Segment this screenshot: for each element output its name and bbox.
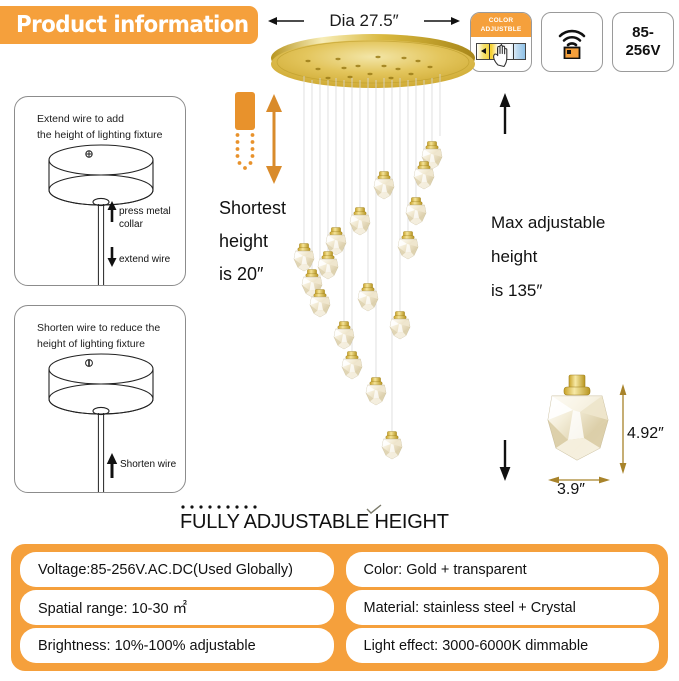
voltage-line-1: 85- (632, 24, 654, 42)
page-title: Product information (16, 12, 249, 38)
feature-remote-control (541, 12, 603, 72)
header-banner: Product information (0, 6, 258, 44)
crystal-height-label: 4.92″ (627, 425, 664, 443)
crystal-width-label: 3.9″ (557, 481, 585, 499)
spec-column-right: Color: Gold + transparent Material: stai… (340, 551, 662, 664)
spec-item-spatial-range: Spatial range: 10-30 ㎡ (20, 590, 334, 625)
diagram-shorten-wire: Shorten wire to reduce the height of lig… (14, 305, 186, 493)
shortest-height-label: Shortest height is 20″ (219, 192, 286, 291)
chandelier-illustration (258, 28, 488, 508)
max-height-label: Max adjustable height is 135″ (491, 206, 605, 308)
spec-item-material: Material: stainless steel + Crystal (346, 590, 660, 625)
hand-pointer-icon (489, 43, 515, 69)
arrow-down-icon (496, 440, 514, 482)
product-information-infographic: Product information Dia 27.5″ COLOR ADJU… (0, 0, 679, 681)
fully-adjustable-height-label: FULLY ADJUSTABLE HEIGHT (180, 511, 449, 534)
voltage-line-2: 256V (625, 42, 660, 60)
shortest-height-indicator (228, 92, 286, 192)
spec-item-brightness: Brightness: 10%-100% adjustable (20, 628, 334, 663)
arrow-right-icon (422, 14, 460, 28)
diagram-extend-wire: Extend wire to add the height of lightin… (14, 96, 186, 286)
spec-column-left: Voltage:85-256V.AC.DC(Used Globally) Spa… (18, 551, 340, 664)
diagram-extend-annotation-3: extend wire (119, 254, 170, 265)
remote-signal-icon (555, 25, 589, 59)
specifications-panel: Voltage:85-256V.AC.DC(Used Globally) Spa… (11, 544, 668, 671)
spec-item-voltage: Voltage:85-256V.AC.DC(Used Globally) (20, 552, 334, 587)
diagram-extend-annotation-1: press metal (119, 205, 171, 218)
feature-voltage-range: 85- 256V (612, 12, 674, 72)
diagram-shorten-annotation-1: Shorten wire (120, 459, 176, 470)
spec-item-color: Color: Gold + transparent (346, 552, 660, 587)
arrow-up-icon (496, 92, 514, 134)
diagram-extend-annotation-2: collar (119, 218, 171, 231)
decorative-dots (180, 503, 260, 511)
arrow-left-icon (268, 14, 306, 28)
spec-item-light-effect: Light effect: 3000-6000K dimmable (346, 628, 660, 663)
